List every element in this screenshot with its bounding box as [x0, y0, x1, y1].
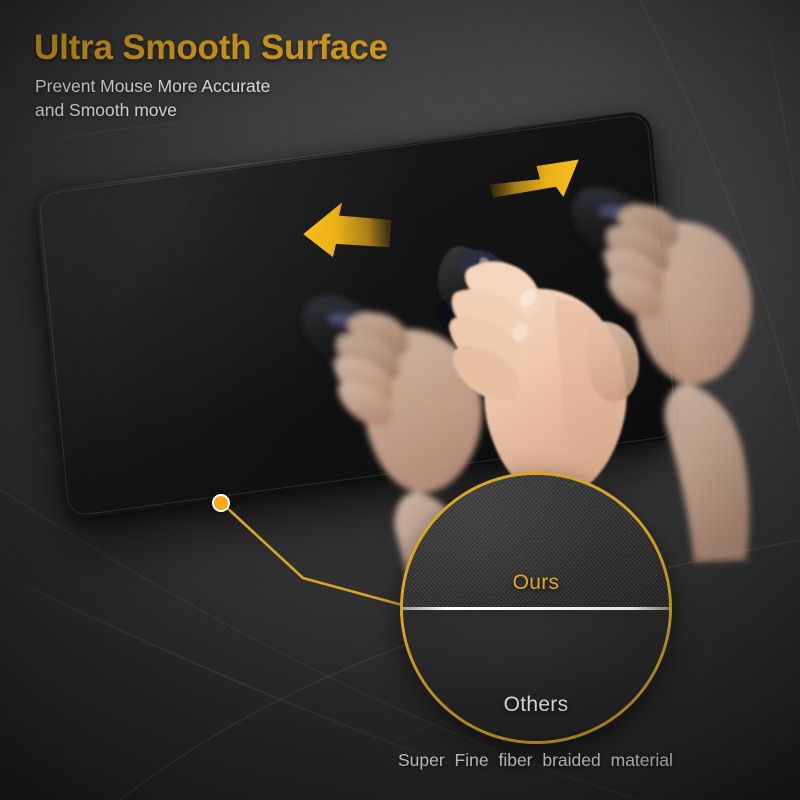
mousepad-sheen: [35, 110, 681, 521]
mousepad: [35, 110, 681, 521]
surface-comparison-magnifier: Ours Others: [400, 472, 672, 744]
arrow-right-icon: [489, 156, 578, 200]
subheadline: Prevent Mouse More Accurate and Smooth m…: [35, 75, 504, 122]
label-ours: Ours: [403, 571, 669, 595]
mousepad-edge-highlight: [35, 110, 650, 194]
subheadline-line-1: Prevent Mouse More Accurate: [35, 76, 270, 96]
motion-blur-streaks: [392, 284, 742, 406]
mousepad-stitched-edge: [38, 113, 677, 517]
leader-line-icon: [225, 506, 402, 605]
subheadline-line-2: and Smooth move: [35, 100, 177, 120]
callout-dot-icon: [212, 494, 230, 512]
label-others: Others: [403, 693, 669, 717]
arrow-left-icon: [301, 199, 394, 259]
material-caption: Super Fine fiber braided material: [398, 750, 728, 771]
page-title: Ultra Smooth Surface: [34, 30, 504, 66]
headline-block: Ultra Smooth Surface Prevent Mouse More …: [34, 30, 504, 122]
product-marketing-poster: Ultra Smooth Surface Prevent Mouse More …: [0, 0, 800, 800]
